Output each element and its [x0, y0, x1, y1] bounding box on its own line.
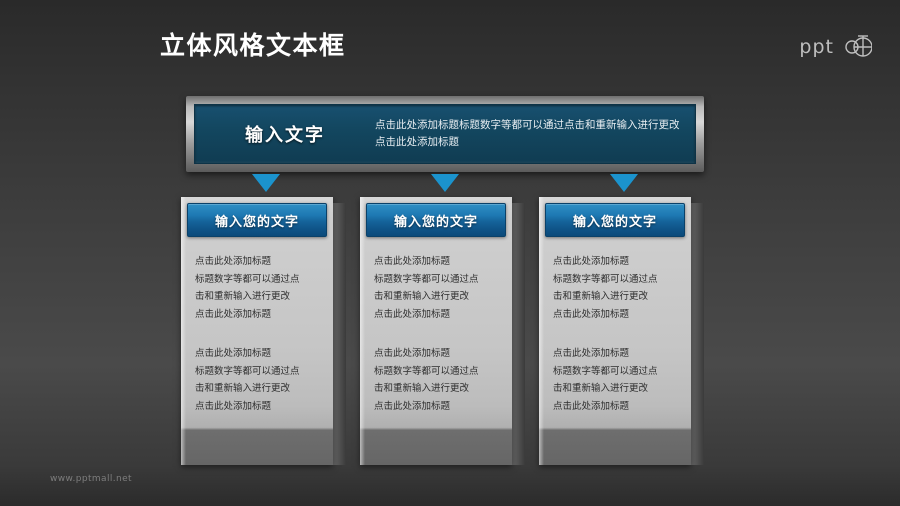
column-side-face: [512, 203, 525, 465]
text-line: 标题数字等都可以通过点: [195, 363, 327, 381]
text-line: 标题数字等都可以通过点: [374, 363, 506, 381]
banner-heading: 输入文字: [195, 121, 375, 147]
text-line: 点击此处添加标题: [553, 253, 685, 271]
circle-cross-icon: [838, 28, 872, 66]
text-line: 点击此处添加标题: [553, 306, 685, 324]
text-line: 标题数字等都可以通过点: [374, 271, 506, 289]
banner-body-line: 点击此处添加标题: [375, 134, 681, 151]
page-title: 立体风格文本框: [160, 26, 346, 62]
text-block: 点击此处添加标题 标题数字等都可以通过点 击和重新输入进行更改 点击此处添加标题: [374, 345, 506, 415]
banner-body-line: 点击此处添加标题标题数字等都可以通过点击和重新输入进行更改: [375, 117, 681, 134]
column-side-face: [691, 203, 704, 465]
triangle-down-icon: [252, 174, 280, 192]
text-block: 点击此处添加标题 标题数字等都可以通过点 击和重新输入进行更改 点击此处添加标题: [195, 345, 327, 415]
triangle-down-icon: [431, 174, 459, 192]
text-block: 点击此处添加标题 标题数字等都可以通过点 击和重新输入进行更改 点击此处添加标题: [195, 253, 327, 323]
text-line: 点击此处添加标题: [374, 306, 506, 324]
column-front-face: 输入您的文字 点击此处添加标题 标题数字等都可以通过点 击和重新输入进行更改 点…: [181, 197, 333, 465]
text-line: 击和重新输入进行更改: [195, 380, 327, 398]
column-header[interactable]: 输入您的文字: [366, 203, 506, 237]
text-line: 击和重新输入进行更改: [553, 288, 685, 306]
text-line: 标题数字等都可以通过点: [553, 363, 685, 381]
text-line: 点击此处添加标题: [195, 345, 327, 363]
text-block: 点击此处添加标题 标题数字等都可以通过点 击和重新输入进行更改 点击此处添加标题: [553, 345, 685, 415]
watermark: www.pptmall.net: [50, 474, 132, 484]
text-line: 点击此处添加标题: [195, 253, 327, 271]
column-body: 点击此处添加标题 标题数字等都可以通过点 击和重新输入进行更改 点击此处添加标题…: [195, 253, 327, 437]
column-group: 输入您的文字 点击此处添加标题 标题数字等都可以通过点 击和重新输入进行更改 点…: [181, 197, 711, 465]
column-header[interactable]: 输入您的文字: [187, 203, 327, 237]
brand-logo: ppt: [799, 28, 872, 66]
text-line: 点击此处添加标题: [195, 398, 327, 416]
content-column-2[interactable]: 输入您的文字 点击此处添加标题 标题数字等都可以通过点 击和重新输入进行更改 点…: [360, 197, 512, 465]
text-line: 点击此处添加标题: [374, 398, 506, 416]
column-side-face: [333, 203, 346, 465]
slide-canvas: 立体风格文本框 ppt 输入文字 点击此处添加标题标题数字等都可以通过点击和重新…: [0, 0, 900, 506]
text-line: 击和重新输入进行更改: [374, 380, 506, 398]
text-line: 击和重新输入进行更改: [195, 288, 327, 306]
content-column-1[interactable]: 输入您的文字 点击此处添加标题 标题数字等都可以通过点 击和重新输入进行更改 点…: [181, 197, 333, 465]
column-front-face: 输入您的文字 点击此处添加标题 标题数字等都可以通过点 击和重新输入进行更改 点…: [360, 197, 512, 465]
text-line: 点击此处添加标题: [195, 306, 327, 324]
top-banner-inner: 输入文字 点击此处添加标题标题数字等都可以通过点击和重新输入进行更改 点击此处添…: [194, 104, 696, 164]
top-banner[interactable]: 输入文字 点击此处添加标题标题数字等都可以通过点击和重新输入进行更改 点击此处添…: [186, 96, 704, 172]
column-header[interactable]: 输入您的文字: [545, 203, 685, 237]
text-line: 标题数字等都可以通过点: [195, 271, 327, 289]
text-line: 击和重新输入进行更改: [374, 288, 506, 306]
text-line: 点击此处添加标题: [374, 345, 506, 363]
column-body: 点击此处添加标题 标题数字等都可以通过点 击和重新输入进行更改 点击此处添加标题…: [553, 253, 685, 437]
text-line: 点击此处添加标题: [553, 398, 685, 416]
column-body: 点击此处添加标题 标题数字等都可以通过点 击和重新输入进行更改 点击此处添加标题…: [374, 253, 506, 437]
text-line: 标题数字等都可以通过点: [553, 271, 685, 289]
brand-logo-text: ppt: [799, 36, 834, 58]
text-line: 点击此处添加标题: [553, 345, 685, 363]
text-block: 点击此处添加标题 标题数字等都可以通过点 击和重新输入进行更改 点击此处添加标题: [374, 253, 506, 323]
triangle-down-icon: [610, 174, 638, 192]
text-line: 点击此处添加标题: [374, 253, 506, 271]
banner-body: 点击此处添加标题标题数字等都可以通过点击和重新输入进行更改 点击此处添加标题: [375, 117, 695, 151]
content-column-3[interactable]: 输入您的文字 点击此处添加标题 标题数字等都可以通过点 击和重新输入进行更改 点…: [539, 197, 691, 465]
text-block: 点击此处添加标题 标题数字等都可以通过点 击和重新输入进行更改 点击此处添加标题: [553, 253, 685, 323]
column-front-face: 输入您的文字 点击此处添加标题 标题数字等都可以通过点 击和重新输入进行更改 点…: [539, 197, 691, 465]
text-line: 击和重新输入进行更改: [553, 380, 685, 398]
